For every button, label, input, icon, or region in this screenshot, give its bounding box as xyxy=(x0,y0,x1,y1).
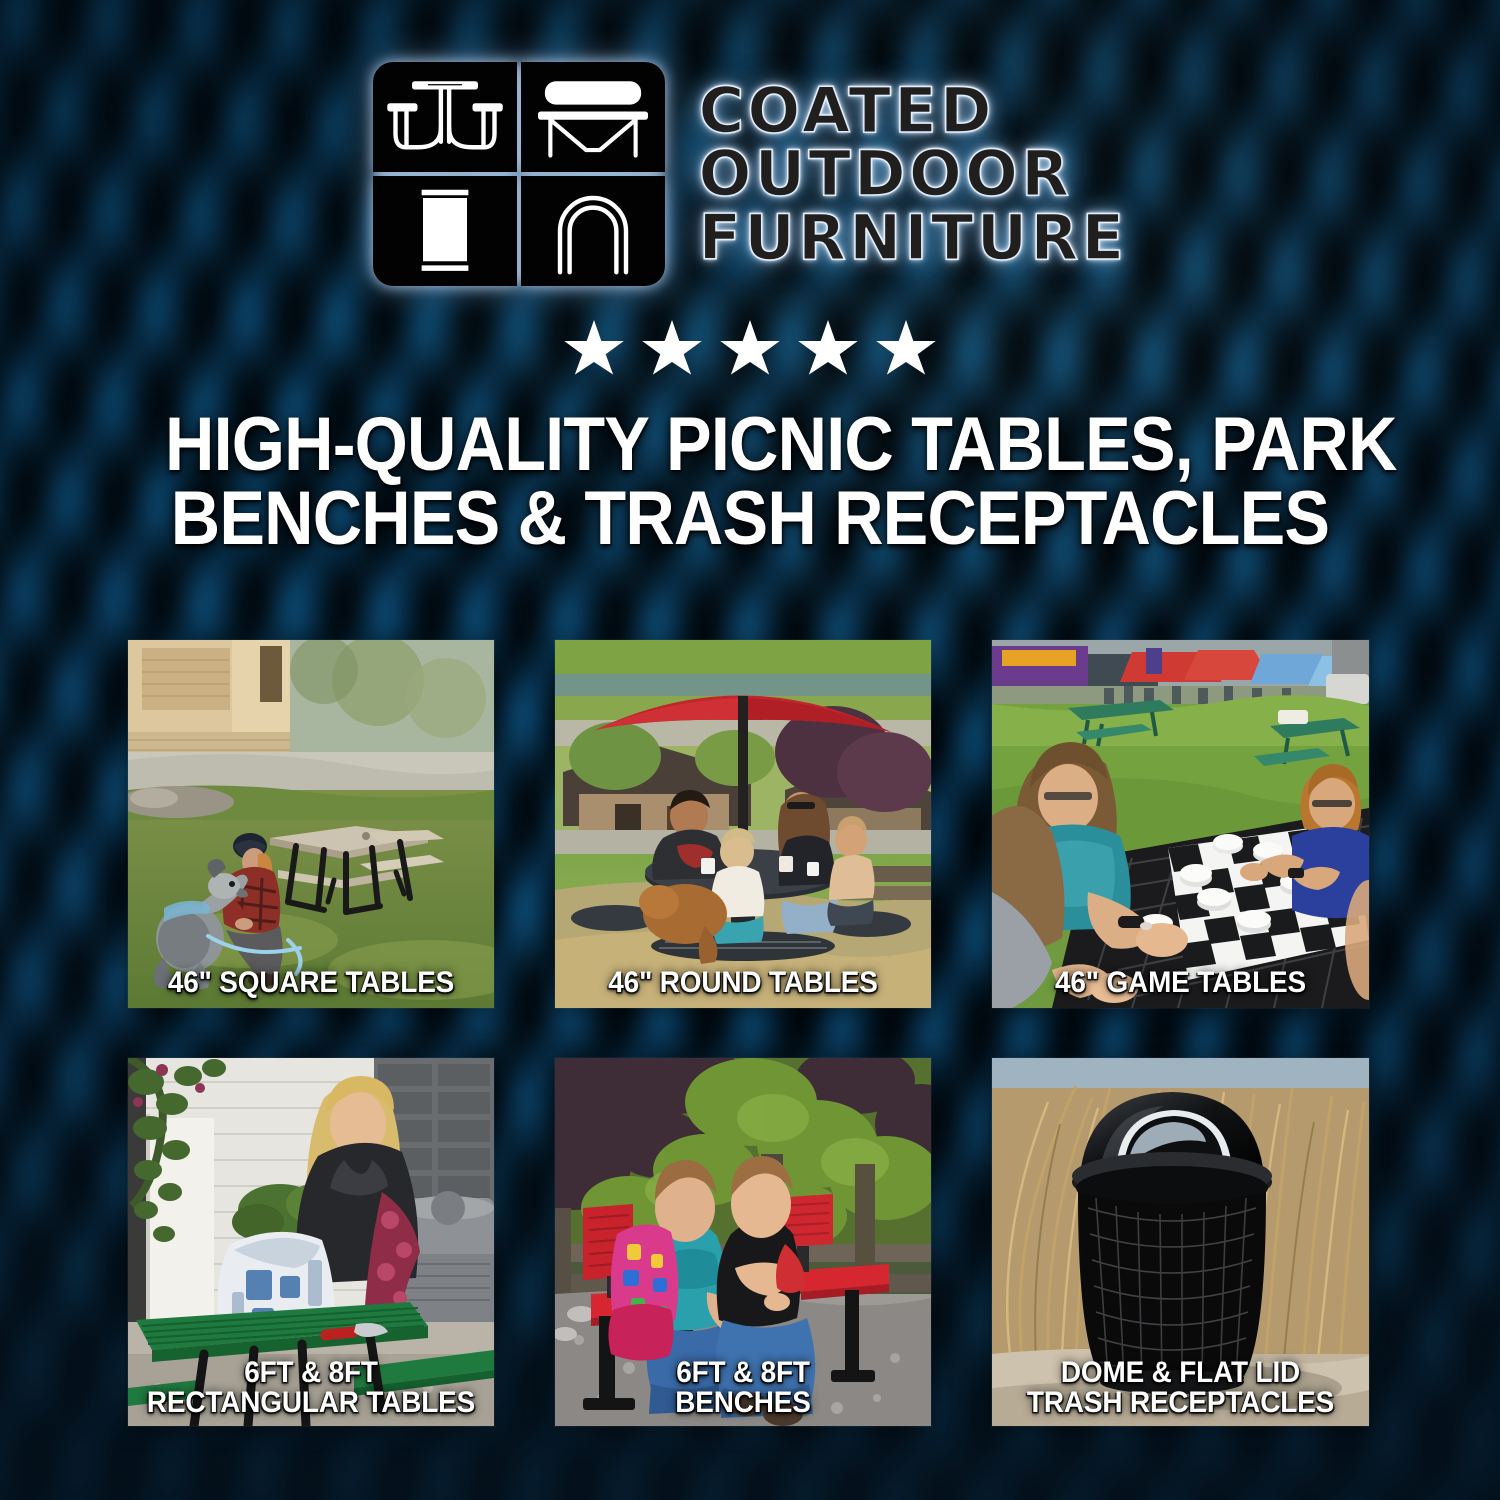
company-logo xyxy=(373,62,665,286)
caption-line-1: DOME & FLAT LID xyxy=(1011,1358,1350,1388)
product-photo-game-tables xyxy=(992,640,1369,1008)
product-grid: 46" SQUARE TABLES xyxy=(128,640,1372,1426)
product-photo-square-tables xyxy=(128,640,494,1008)
product-card-game-tables[interactable]: 46" GAME TABLES xyxy=(992,640,1369,1008)
star-icon xyxy=(875,320,937,380)
star-icon xyxy=(641,320,703,380)
caption-line-1: 46" ROUND TABLES xyxy=(574,968,913,998)
product-caption: 46" GAME TABLES xyxy=(1005,968,1356,998)
product-card-trash-receptacles[interactable]: DOME & FLAT LID TRASH RECEPTACLES xyxy=(992,1058,1369,1426)
page-title: HIGH-QUALITY PICNIC TABLES, PARK BENCHES… xyxy=(165,408,1335,557)
brand-header: COATED OUTDOOR FURNITURE xyxy=(0,0,1500,286)
brand-line-1: COATED xyxy=(699,82,1128,140)
park-bench-icon xyxy=(521,62,665,172)
caption-line-1: 6FT & 8FT xyxy=(146,1358,475,1388)
star-icon xyxy=(563,320,625,380)
product-card-rectangular-tables[interactable]: 6FT & 8FT RECTANGULAR TABLES xyxy=(128,1058,494,1426)
product-card-benches[interactable]: 6FT & 8FT BENCHES xyxy=(555,1058,931,1426)
trash-receptacle-icon xyxy=(373,176,517,286)
promo-banner: COATED OUTDOOR FURNITURE HIGH-QUALITY PI… xyxy=(0,0,1500,1500)
product-photo-round-tables xyxy=(555,640,931,1008)
picnic-table-icon xyxy=(373,62,517,172)
caption-line-1: 6FT & 8FT xyxy=(574,1358,913,1388)
product-caption: 6FT & 8FT RECTANGULAR TABLES xyxy=(141,1358,481,1418)
product-card-round-tables[interactable]: 46" ROUND TABLES xyxy=(555,640,931,1008)
caption-line-2: TRASH RECEPTACLES xyxy=(1011,1388,1350,1418)
star-icon xyxy=(719,320,781,380)
brand-line-2: OUTDOOR xyxy=(699,145,1128,203)
star-icon xyxy=(797,320,859,380)
product-caption: 46" ROUND TABLES xyxy=(568,968,918,998)
product-caption: DOME & FLAT LID TRASH RECEPTACLES xyxy=(1005,1358,1356,1418)
headline-line-2: BENCHES & TRASH RECEPTACLES xyxy=(165,482,1335,556)
brand-line-3: FURNITURE xyxy=(699,209,1128,267)
product-card-square-tables[interactable]: 46" SQUARE TABLES xyxy=(128,640,494,1008)
headline-line-1: HIGH-QUALITY PICNIC TABLES, PARK xyxy=(165,408,1335,482)
star-rating xyxy=(0,320,1500,380)
caption-line-1: 46" GAME TABLES xyxy=(1011,968,1350,998)
caption-line-1: 46" SQUARE TABLES xyxy=(146,968,475,998)
caption-line-2: BENCHES xyxy=(574,1388,913,1418)
product-caption: 6FT & 8FT BENCHES xyxy=(568,1358,918,1418)
product-caption: 46" SQUARE TABLES xyxy=(141,968,481,998)
bike-rack-icon xyxy=(521,176,665,286)
brand-wordmark: COATED OUTDOOR FURNITURE xyxy=(699,82,1128,267)
caption-line-2: RECTANGULAR TABLES xyxy=(146,1388,475,1418)
